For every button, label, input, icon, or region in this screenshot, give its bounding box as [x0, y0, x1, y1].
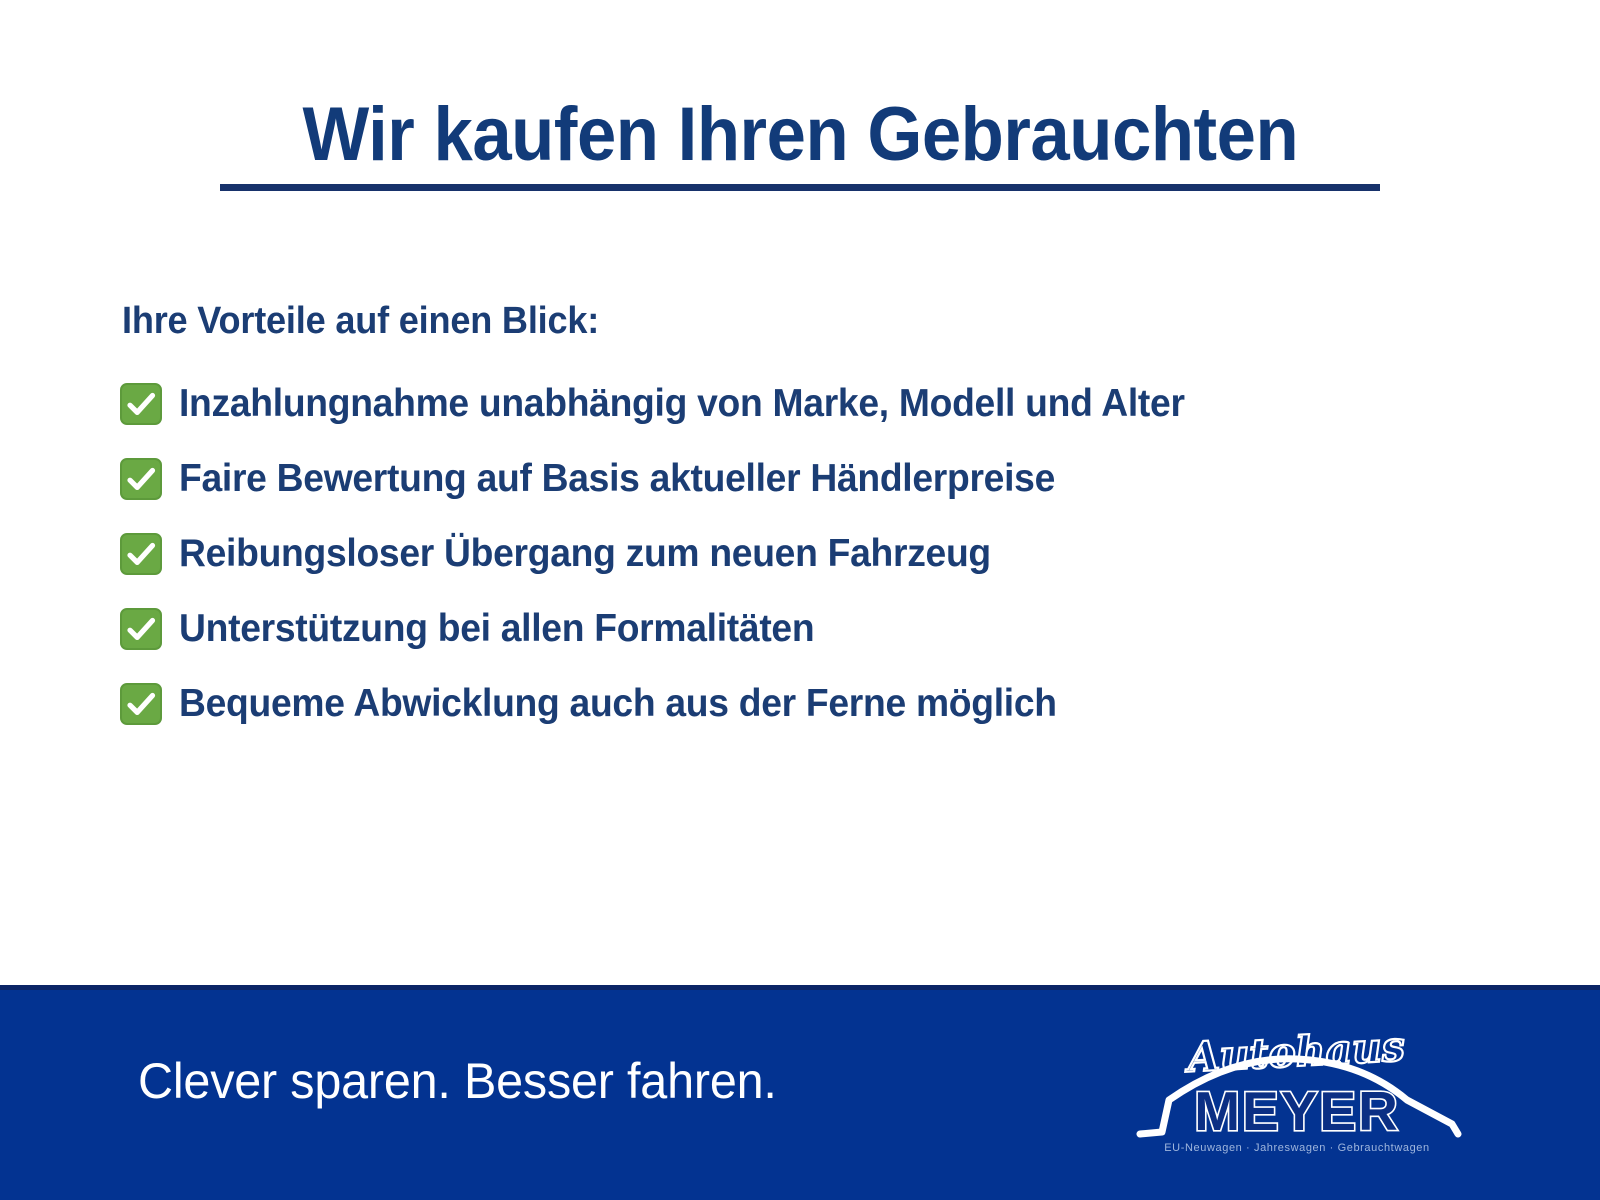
benefit-label: Reibungsloser Übergang zum neuen Fahrzeu…: [179, 532, 991, 576]
check-icon: [120, 383, 162, 425]
check-icon: [120, 683, 162, 725]
footer-slogan: Clever sparen. Besser fahren.: [138, 1052, 777, 1110]
logo-script-text: Autohaus: [1183, 1022, 1406, 1082]
benefit-label: Unterstützung bei allen Formalitäten: [179, 607, 814, 651]
promo-poster: Wir kaufen Ihren Gebrauchten Ihre Vortei…: [0, 0, 1600, 1200]
list-item: Reibungsloser Übergang zum neuen Fahrzeu…: [120, 528, 1540, 580]
page-title: Wir kaufen Ihren Gebrauchten: [0, 96, 1600, 191]
check-icon: [120, 608, 162, 650]
benefit-label: Bequeme Abwicklung auch aus der Ferne mö…: [179, 682, 1057, 726]
dealer-logo: Autohaus MEYER EU-Neuwagen · Jahreswagen…: [1122, 1004, 1472, 1164]
list-item: Unterstützung bei allen Formalitäten: [120, 603, 1540, 655]
title-underline-rule: [220, 184, 1380, 191]
list-item: Inzahlungnahme unabhängig von Marke, Mod…: [120, 378, 1540, 430]
list-item: Bequeme Abwicklung auch aus der Ferne mö…: [120, 678, 1540, 730]
benefit-label: Inzahlungnahme unabhängig von Marke, Mod…: [179, 382, 1185, 426]
page-title-text: Wir kaufen Ihren Gebrauchten: [302, 96, 1298, 174]
footer-bar: Clever sparen. Besser fahren. Autohaus M…: [0, 985, 1600, 1200]
benefit-label: Faire Bewertung auf Basis aktueller Händ…: [179, 457, 1055, 501]
logo-word-text: MEYER: [1194, 1080, 1400, 1142]
check-icon: [120, 458, 162, 500]
logo-tagline-text: EU-Neuwagen · Jahreswagen · Gebrauchtwag…: [1164, 1142, 1430, 1154]
benefits-heading: Ihre Vorteile auf einen Blick:: [122, 300, 599, 343]
list-item: Faire Bewertung auf Basis aktueller Händ…: [120, 453, 1540, 505]
check-icon: [120, 533, 162, 575]
benefits-list: Inzahlungnahme unabhängig von Marke, Mod…: [120, 378, 1540, 753]
